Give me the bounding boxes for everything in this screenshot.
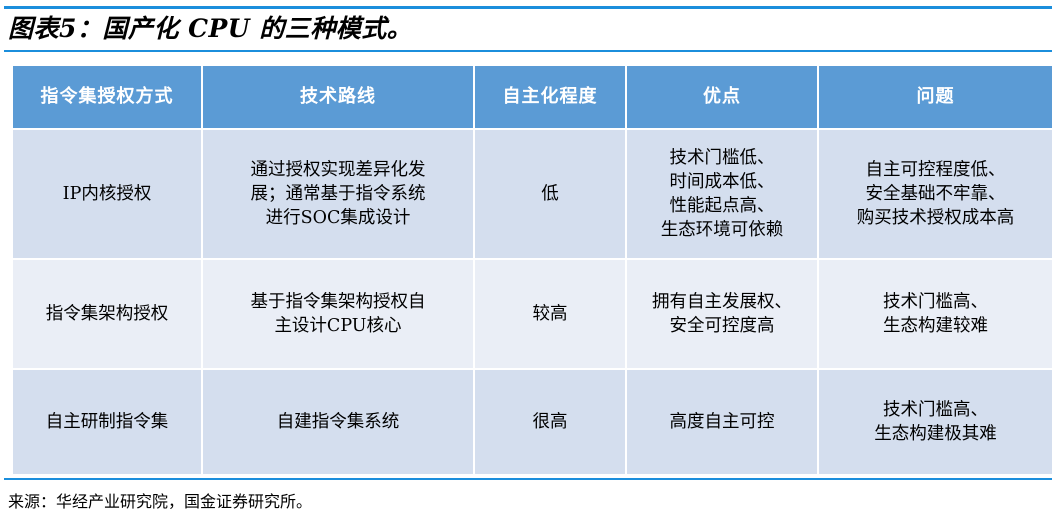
cell-tech-route: 自建指令集系统	[203, 370, 473, 474]
table-header-row: 指令集授权方式 技术路线 自主化程度 优点 问题	[13, 66, 1052, 128]
column-header-issues: 问题	[819, 66, 1052, 128]
table-row: 自主研制指令集 自建指令集系统 很高 高度自主可控 技术门槛高、 生态构建极其难	[13, 370, 1052, 474]
table-body: IP内核授权 通过授权实现差异化发 展；通常基于指令系统 进行SOC集成设计 低…	[13, 130, 1052, 474]
column-header-tech-route: 技术路线	[203, 66, 473, 128]
top-rule	[4, 6, 1052, 9]
cell-line: 生态构建极其难	[825, 422, 1046, 446]
cell-line: 技术门槛低、	[633, 146, 811, 170]
cell-line: 展；通常基于指令系统	[209, 182, 467, 206]
figure-title: 图表5：国产化 CPU 的三种模式。	[8, 10, 1048, 48]
cell-authorization-mode: IP内核授权	[13, 130, 201, 258]
cell-advantages: 高度自主可控	[627, 370, 817, 474]
cell-autonomy-level: 很高	[475, 370, 625, 474]
column-header-authorization-mode: 指令集授权方式	[13, 66, 201, 128]
cell-authorization-mode: 自主研制指令集	[13, 370, 201, 474]
cell-tech-route: 基于指令集架构授权自 主设计CPU核心	[203, 260, 473, 368]
comparison-table: 指令集授权方式 技术路线 自主化程度 优点 问题 IP内核授权 通过授权实现差异…	[11, 64, 1054, 476]
cell-line: 生态构建较难	[825, 314, 1046, 338]
cell-advantages: 技术门槛低、 时间成本低、 性能起点高、 生态环境可依赖	[627, 130, 817, 258]
table-header: 指令集授权方式 技术路线 自主化程度 优点 问题	[13, 66, 1052, 128]
column-header-advantages: 优点	[627, 66, 817, 128]
cell-line: 购买技术授权成本高	[825, 206, 1046, 230]
cell-line: 拥有自主发展权、	[633, 290, 811, 314]
title-underline-rule	[4, 50, 1052, 52]
cell-line: 时间成本低、	[633, 170, 811, 194]
cell-line: 性能起点高、	[633, 194, 811, 218]
figure-page: 图表5：国产化 CPU 的三种模式。 指令集授权方式 技术路线 自主化程度 优点…	[0, 0, 1056, 524]
bottom-rule	[4, 478, 1052, 480]
cell-autonomy-level: 低	[475, 130, 625, 258]
cell-line: 通过授权实现差异化发	[209, 158, 467, 182]
cell-line: 安全可控度高	[633, 314, 811, 338]
cell-line: 安全基础不牢靠、	[825, 182, 1046, 206]
figure-source: 来源：华经产业研究院，国金证券研究所。	[8, 488, 1048, 516]
cell-line: 自主可控程度低、	[825, 158, 1046, 182]
comparison-table-wrapper: 指令集授权方式 技术路线 自主化程度 优点 问题 IP内核授权 通过授权实现差异…	[11, 64, 1046, 476]
cell-issues: 技术门槛高、 生态构建较难	[819, 260, 1052, 368]
cell-line: 进行SOC集成设计	[209, 206, 467, 230]
cell-line: 技术门槛高、	[825, 398, 1046, 422]
cell-line: 主设计CPU核心	[209, 314, 467, 338]
cell-line: 基于指令集架构授权自	[209, 290, 467, 314]
cell-line: 生态环境可依赖	[633, 218, 811, 242]
table-row: IP内核授权 通过授权实现差异化发 展；通常基于指令系统 进行SOC集成设计 低…	[13, 130, 1052, 258]
table-row: 指令集架构授权 基于指令集架构授权自 主设计CPU核心 较高 拥有自主发展权、 …	[13, 260, 1052, 368]
cell-tech-route: 通过授权实现差异化发 展；通常基于指令系统 进行SOC集成设计	[203, 130, 473, 258]
cell-issues: 技术门槛高、 生态构建极其难	[819, 370, 1052, 474]
cell-line: 技术门槛高、	[825, 290, 1046, 314]
cell-autonomy-level: 较高	[475, 260, 625, 368]
cell-advantages: 拥有自主发展权、 安全可控度高	[627, 260, 817, 368]
cell-authorization-mode: 指令集架构授权	[13, 260, 201, 368]
column-header-autonomy-level: 自主化程度	[475, 66, 625, 128]
cell-issues: 自主可控程度低、 安全基础不牢靠、 购买技术授权成本高	[819, 130, 1052, 258]
